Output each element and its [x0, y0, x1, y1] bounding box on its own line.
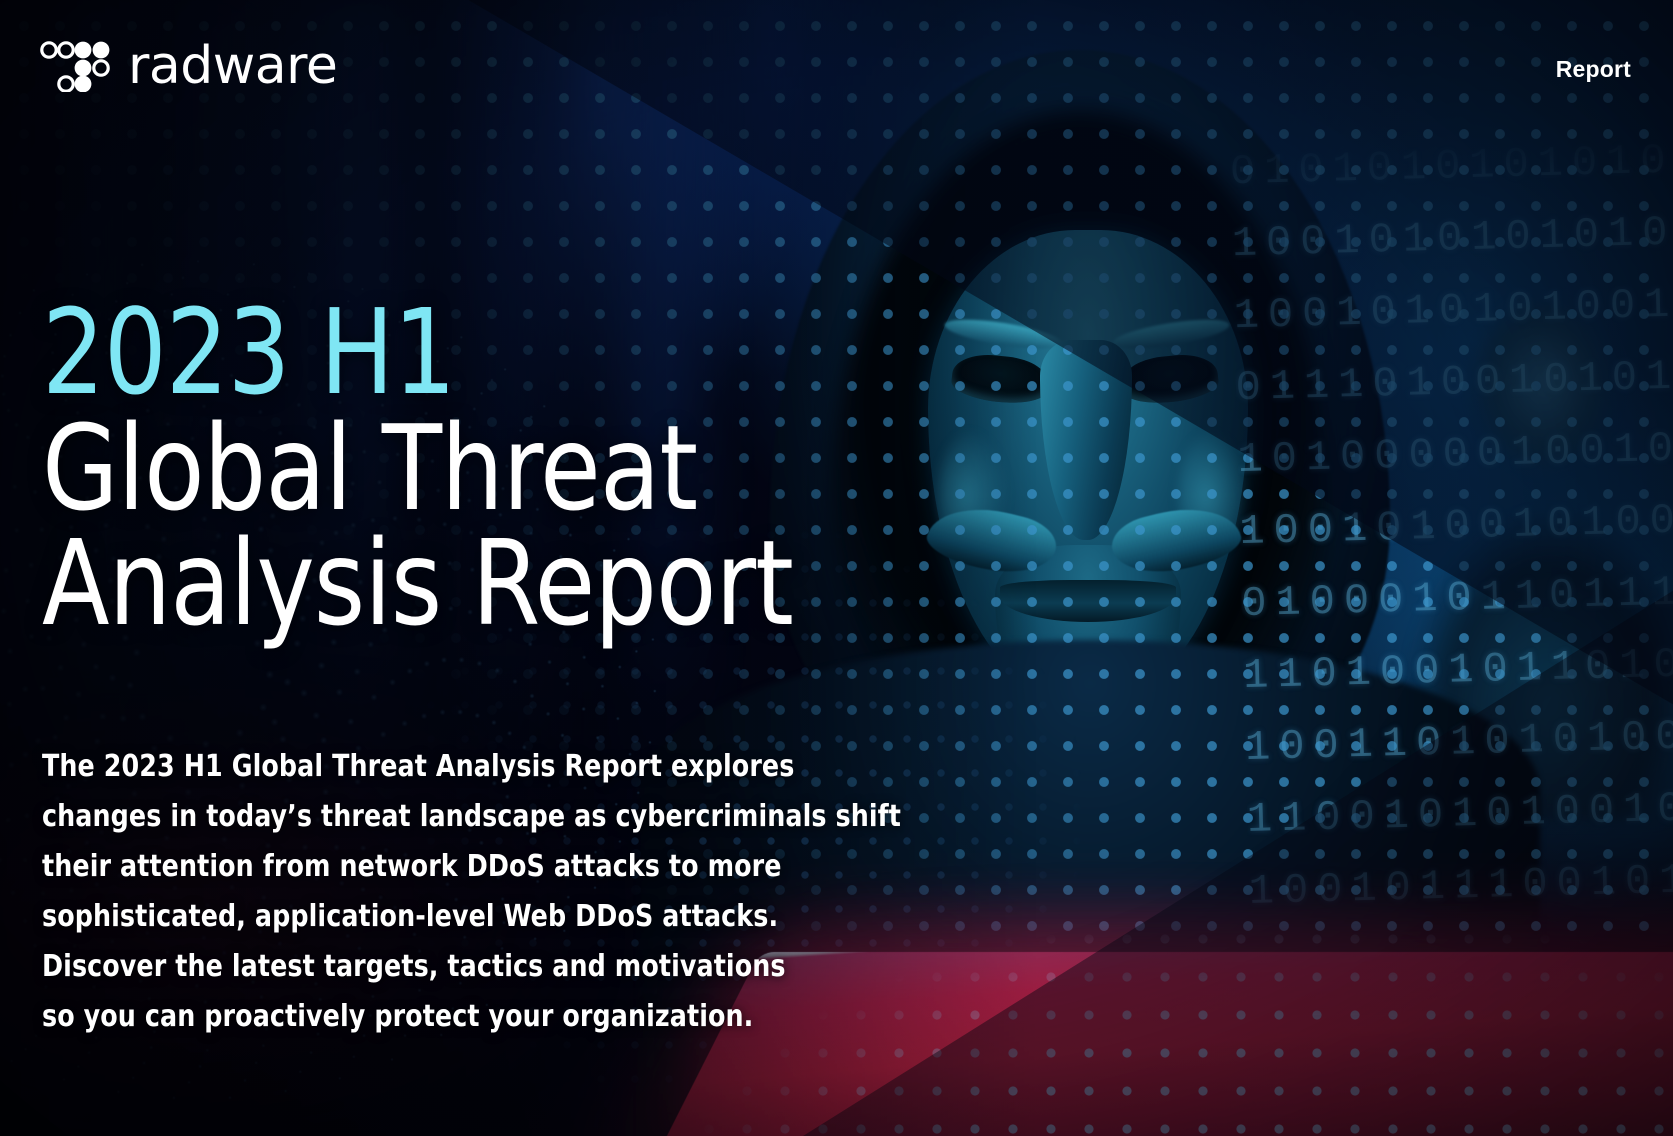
radware-wordmark: radware: [128, 40, 337, 92]
title-line-2: Global Threat: [42, 411, 860, 527]
report-cover-page: 010101010101010 1001010101010101 1001010…: [0, 0, 1673, 1136]
description-line: so you can proactively protect your orga…: [42, 992, 907, 1042]
title-line-3: Analysis Report: [42, 526, 860, 642]
radware-logo[interactable]: radware: [40, 40, 337, 92]
description-line: Discover the latest targets, tactics and…: [42, 942, 907, 992]
cover-content: radware Report 2023 H1 Global Threat Ana…: [0, 0, 1673, 1136]
radware-dots-logo-icon: [40, 40, 114, 92]
report-label: Report: [1556, 56, 1631, 83]
description-line: sophisticated, application-level Web DDo…: [42, 892, 907, 942]
page-title: 2023 H1 Global Threat Analysis Report: [42, 295, 922, 642]
description-line: changes in today’s threat landscape as c…: [42, 792, 907, 842]
title-line-1: 2023 H1: [42, 295, 860, 411]
description-line: The 2023 H1 Global Threat Analysis Repor…: [42, 742, 907, 792]
description-line: their attention from network DDoS attack…: [42, 842, 907, 892]
description-paragraph: The 2023 H1 Global Threat Analysis Repor…: [42, 742, 907, 1042]
